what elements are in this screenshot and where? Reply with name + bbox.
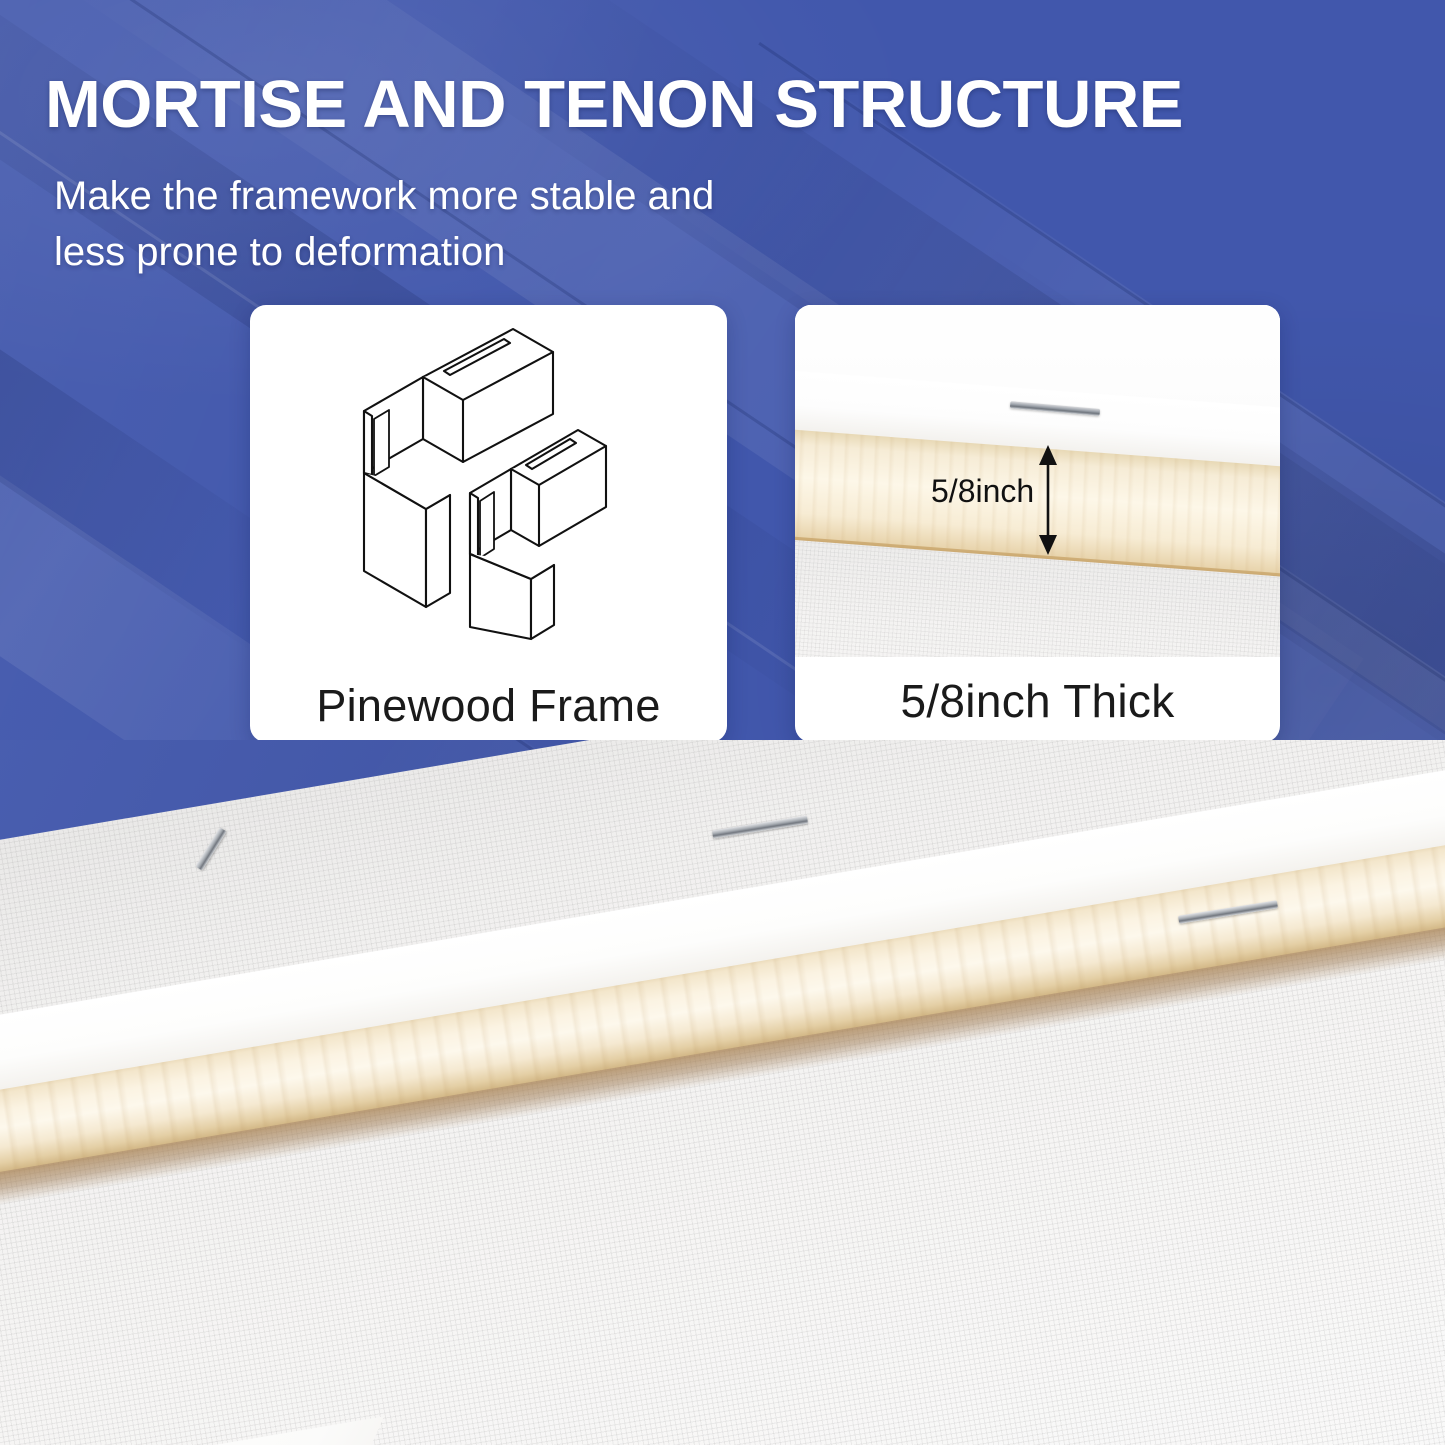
card-caption-pinewood-frame: Pinewood Frame [250, 680, 727, 732]
card-caption-thickness: 5/8inch Thick [795, 674, 1280, 728]
dimension-label: 5/8inch [931, 473, 1034, 510]
main-product-photo [0, 740, 1445, 1445]
feature-card-thickness: 5/8inch 5/8inch Thick [795, 305, 1280, 742]
mortise-tenon-joint-icon [268, 317, 709, 647]
subtitle-line-1: Make the framework more stable and [54, 168, 714, 224]
page-subtitle: Make the framework more stable and less … [54, 168, 714, 280]
subtitle-line-2: less prone to deformation [54, 224, 714, 280]
feature-card-pinewood-frame: Pinewood Frame [250, 305, 727, 742]
dimension-arrow-icon [1035, 445, 1061, 555]
canvas-edge-photo: 5/8inch [795, 305, 1280, 657]
page-title: MORTISE AND TENON STRUCTURE [45, 66, 1183, 143]
product-feature-image: MORTISE AND TENON STRUCTURE Make the fra… [0, 0, 1445, 1445]
